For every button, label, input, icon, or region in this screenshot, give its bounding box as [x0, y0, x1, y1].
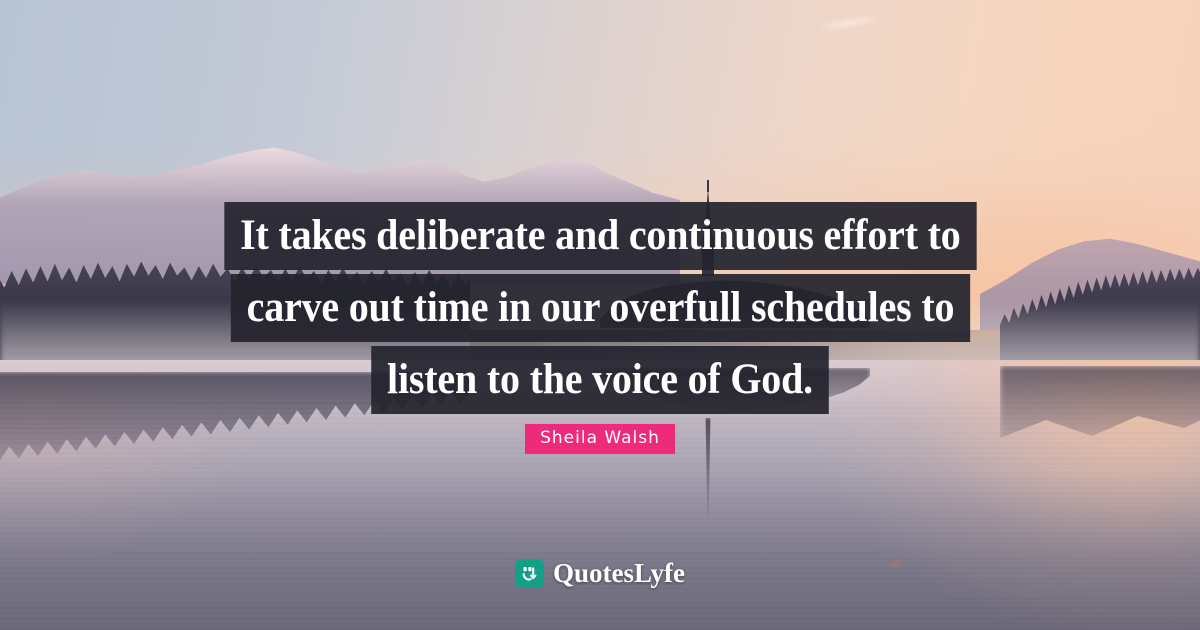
bottom-vignette	[0, 470, 1200, 630]
quote-line-2: carve out time in our overfull schedules…	[0, 274, 1200, 342]
quote-line-1: It takes deliberate and continuous effor…	[0, 202, 1200, 270]
quote-line-2-text: carve out time in our overfull schedules…	[230, 274, 969, 342]
brand-name-text: QuotesLyfe	[553, 558, 685, 589]
quote-line-3: listen to the voice of God.	[0, 346, 1200, 414]
quote-line-1-text: It takes deliberate and continuous effor…	[224, 202, 976, 270]
quoteslyfe-mark-icon	[515, 559, 544, 588]
author-attribution: Sheila Walsh	[0, 424, 1200, 454]
author-name-badge: Sheila Walsh	[525, 424, 675, 454]
quote-card: It takes deliberate and continuous effor…	[0, 0, 1200, 630]
quote-text: It takes deliberate and continuous effor…	[0, 202, 1200, 418]
quote-line-3-text: listen to the voice of God.	[371, 346, 829, 414]
brand-logo[interactable]: QuotesLyfe	[0, 558, 1200, 589]
